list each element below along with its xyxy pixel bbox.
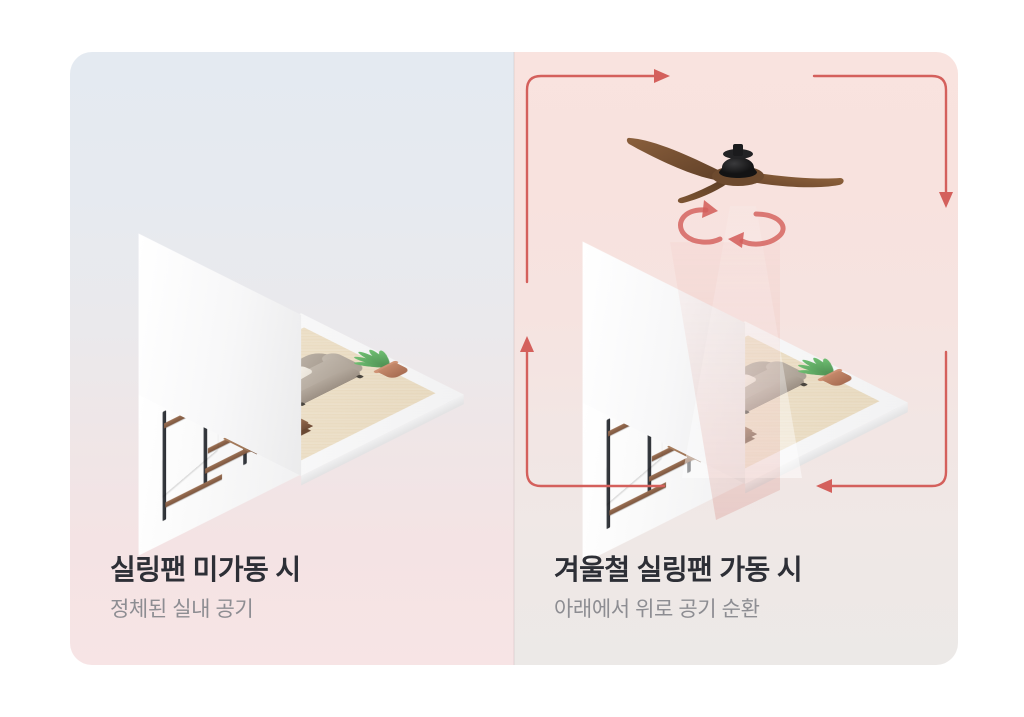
infographic-stage: 실링팬 미가동 시 정체된 실내 공기: [0, 0, 1024, 717]
caption-left: 실링팬 미가동 시 정체된 실내 공기: [110, 552, 300, 623]
caption-right: 겨울철 실링팬 가동 시 아래에서 위로 공기 순환: [554, 552, 802, 623]
comparison-card: 실링팬 미가동 시 정체된 실내 공기: [70, 52, 958, 665]
panel-subtitle-right: 아래에서 위로 공기 순환: [554, 596, 802, 623]
panel-subtitle-left: 정체된 실내 공기: [110, 596, 300, 623]
arrowhead-up: [520, 336, 534, 352]
panel-title-right: 겨울철 실링팬 가동 시: [554, 552, 802, 587]
arrowhead-down: [939, 192, 953, 208]
panel-divider: [514, 52, 515, 665]
isometric-room-left: [122, 240, 462, 540]
wall-right: [583, 242, 746, 484]
wall-right: [139, 234, 302, 476]
rotation-arrowhead-bottom: [728, 232, 744, 248]
panel-winter-fan: 겨울철 실링팬 가동 시 아래에서 위로 공기 순환: [514, 52, 958, 665]
panel-no-fan: 실링팬 미가동 시 정체된 실내 공기: [70, 52, 514, 665]
panel-title-left: 실링팬 미가동 시: [110, 552, 300, 587]
rotation-arrowhead-top: [702, 200, 718, 218]
isometric-room-right: [566, 248, 906, 548]
rotation-arrows-icon: [658, 194, 814, 256]
arrowhead-right: [654, 69, 670, 83]
